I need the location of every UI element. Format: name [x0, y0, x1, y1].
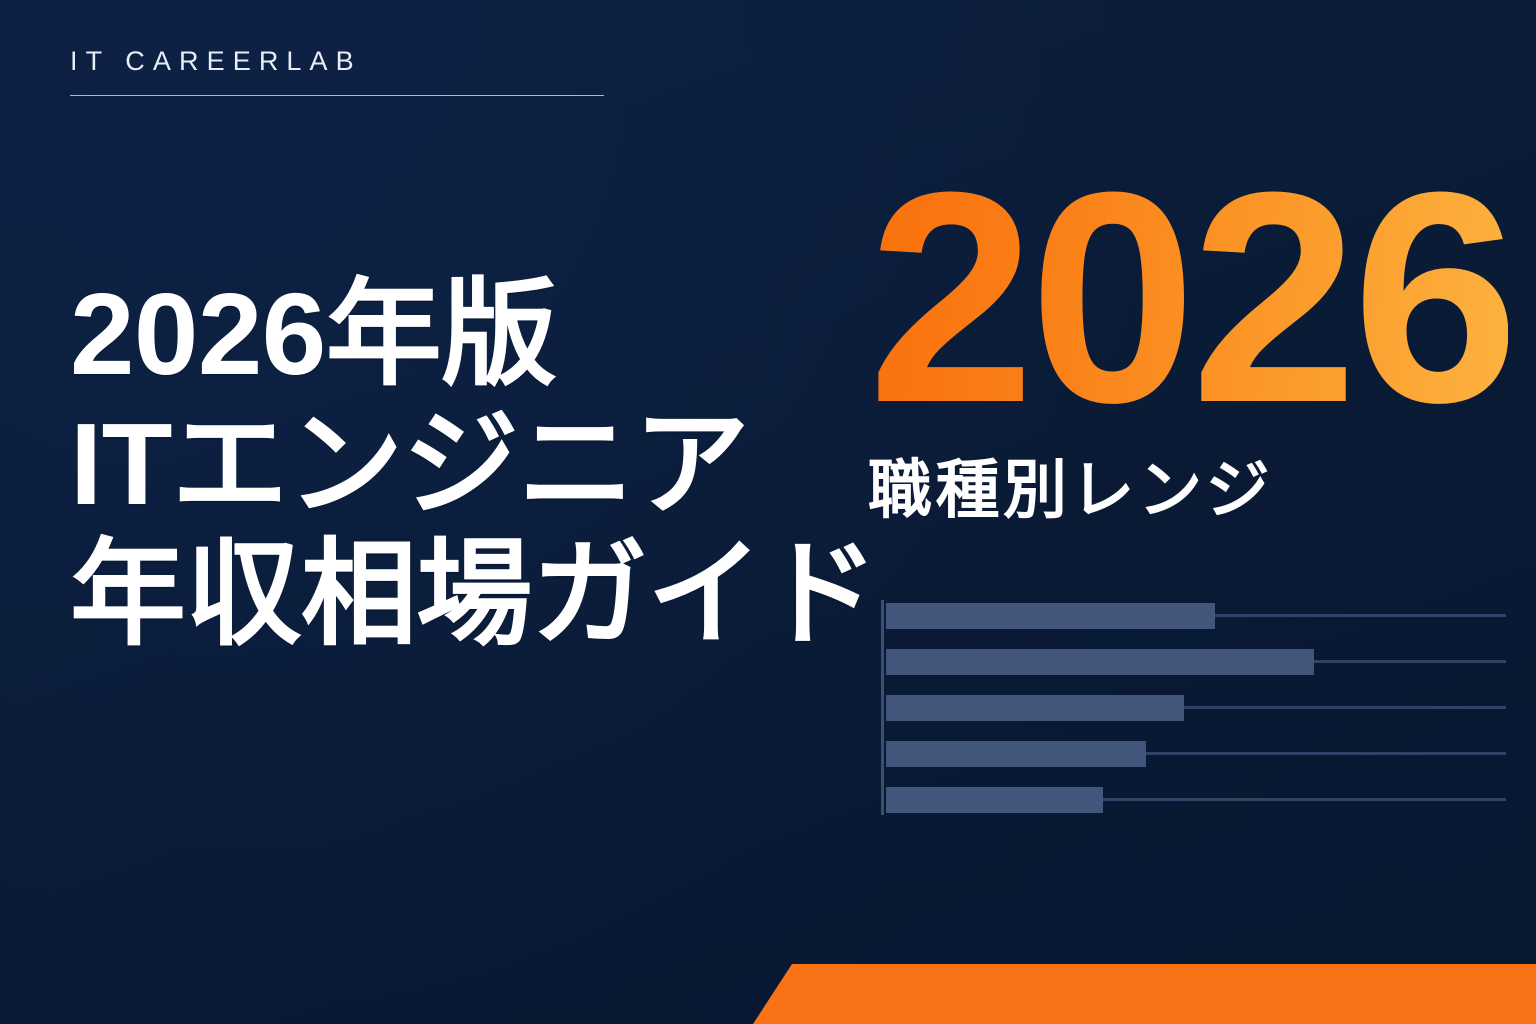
brand-name: IT CAREERLAB	[70, 48, 604, 75]
chart-row	[886, 603, 1506, 629]
chart-row	[886, 787, 1506, 813]
chart-row	[886, 741, 1506, 767]
salary-range-chart	[881, 598, 1506, 818]
page-title-line-1: 2026年版	[70, 276, 870, 392]
page-title: 2026年版 ITエンジニア 年収相場ガイド	[70, 276, 870, 652]
page-title-line-3: 年収相場ガイド	[70, 536, 870, 652]
chart-bar	[886, 787, 1103, 813]
chart-row	[886, 695, 1506, 721]
brand-block: IT CAREERLAB	[70, 48, 604, 96]
bottom-accent-shape	[0, 964, 1536, 1024]
poster-canvas: IT CAREERLAB 2026年版 ITエンジニア 年収相場ガイド 2026…	[0, 0, 1536, 1024]
page-title-line-2: ITエンジニア	[70, 406, 870, 522]
chart-row	[886, 649, 1506, 675]
chart-bar	[886, 649, 1314, 675]
year-number: 2026	[868, 150, 1508, 444]
chart-y-axis	[881, 600, 884, 815]
chart-bar	[886, 603, 1215, 629]
brand-divider	[70, 95, 604, 96]
chart-bar	[886, 695, 1184, 721]
year-subtitle: 職種別レンジ	[868, 458, 1508, 522]
chart-bar-rows	[886, 598, 1506, 818]
chart-bar	[886, 741, 1146, 767]
year-badge: 2026 職種別レンジ	[868, 150, 1508, 522]
